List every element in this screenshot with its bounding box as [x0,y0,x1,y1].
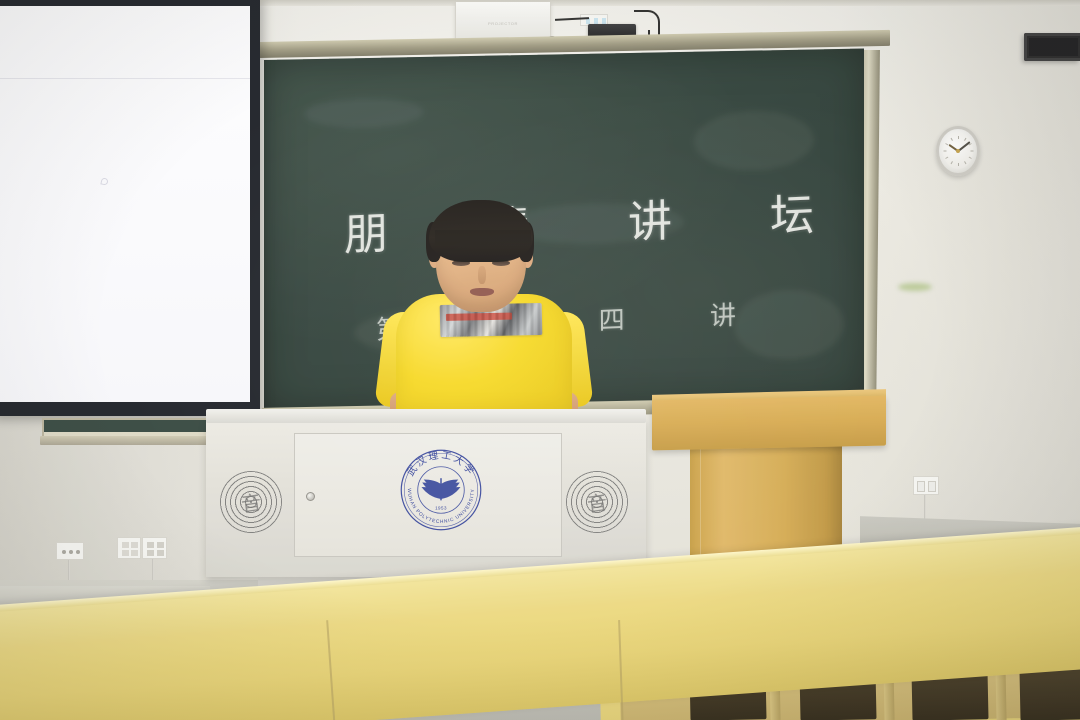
lock-icon[interactable] [306,492,315,501]
blackboard-title-char-4: 坛 [770,194,814,240]
chalk-dust [734,289,844,361]
wall-socket-double[interactable] [913,476,939,495]
mouth [470,288,494,296]
chalk-dust [304,97,424,129]
speaker-grille-right: 音 [566,471,628,533]
projection-screen [0,0,260,416]
blackboard-title-char-3: 讲 [628,200,672,246]
student-speaker [396,196,572,420]
classroom-photo: PROJECTOR 朋 辈 讲 坛 第 十 四 讲 [0,0,1080,720]
podium-desktop-surface [206,409,646,423]
clock-face [943,133,973,169]
chalk-dust [694,109,814,171]
projection-screen-surface [0,6,250,402]
screen-blemish [100,177,108,185]
seal-year: 1953 [435,506,447,511]
wall-speaker [1024,33,1080,61]
blackboard-subtitle-char-4: 讲 [710,303,736,330]
wall-smudge [898,283,932,291]
screen-seam [0,78,250,79]
blackboard-subtitle-char-3: 四 [599,308,625,335]
wall-socket-three-pin[interactable] [56,542,84,560]
wall-socket-four-gang[interactable] [142,537,167,559]
blackboard-title-char-1: 朋 [344,212,388,258]
projector-label: PROJECTOR [488,21,518,26]
wall-clock [936,126,980,176]
clock-center-pin [956,149,960,153]
lectern-top [652,396,886,451]
speaker-logo-icon: 音 [239,486,263,518]
nose [478,266,486,284]
speaker-grille-left: 音 [220,471,282,533]
bench-under-gap [1019,669,1080,720]
speaker-logo-icon: 音 [585,486,609,518]
hair [429,200,533,262]
university-seal: 武汉理工大学 WUHAN POLYTECHNIC UNIVERSITY 1953 [396,445,486,535]
wall-socket-four-gang[interactable] [117,537,141,559]
